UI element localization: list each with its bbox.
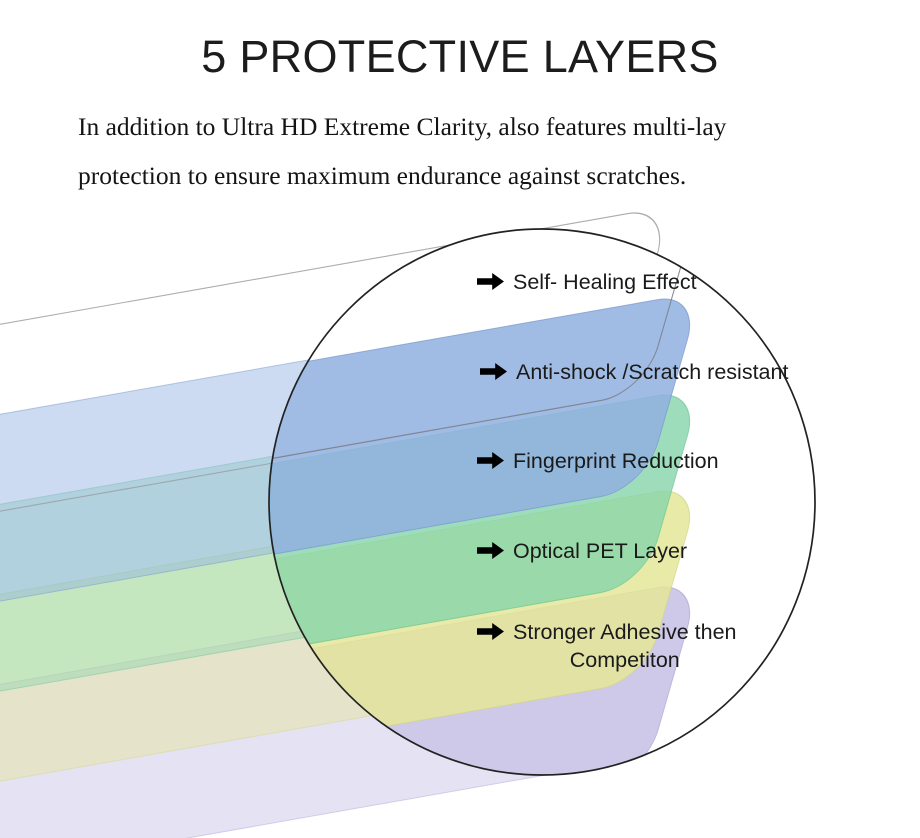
callout-adhesive: Stronger Adhesive then Competiton (477, 618, 737, 674)
callout-label-line-1: Fingerprint Reduction (513, 449, 719, 473)
callout-label: Stronger Adhesive then Competiton (513, 618, 737, 674)
callout-label: Self- Healing Effect (513, 268, 697, 296)
callout-self-healing: Self- Healing Effect (477, 268, 697, 296)
callout-label-line-1: Stronger Adhesive then (513, 620, 737, 644)
callout-label-line-1: Optical PET Layer (513, 539, 687, 563)
callout-label: Anti-shock /Scratch resistant (516, 358, 788, 386)
callout-label-line-1: Self- Healing Effect (513, 270, 697, 294)
callout-optical-pet: Optical PET Layer (477, 537, 687, 565)
callout-list: Self- Healing Effect Anti-shock /Scratch… (0, 0, 920, 838)
arrow-right-icon (477, 452, 504, 469)
callout-anti-shock: Anti-shock /Scratch resistant (480, 358, 788, 386)
infographic-canvas: 5 PROTECTIVE LAYERS In addition to Ultra… (0, 0, 920, 838)
callout-label: Fingerprint Reduction (513, 447, 719, 475)
callout-label-line-1: Anti-shock /Scratch resistant (516, 360, 788, 384)
arrow-right-icon (480, 363, 507, 380)
arrow-right-icon (477, 273, 504, 290)
callout-label-line-2: Competiton (513, 646, 737, 674)
callout-label: Optical PET Layer (513, 537, 687, 565)
callout-fingerprint: Fingerprint Reduction (477, 447, 719, 475)
arrow-right-icon (477, 542, 504, 559)
arrow-right-icon (477, 623, 504, 640)
